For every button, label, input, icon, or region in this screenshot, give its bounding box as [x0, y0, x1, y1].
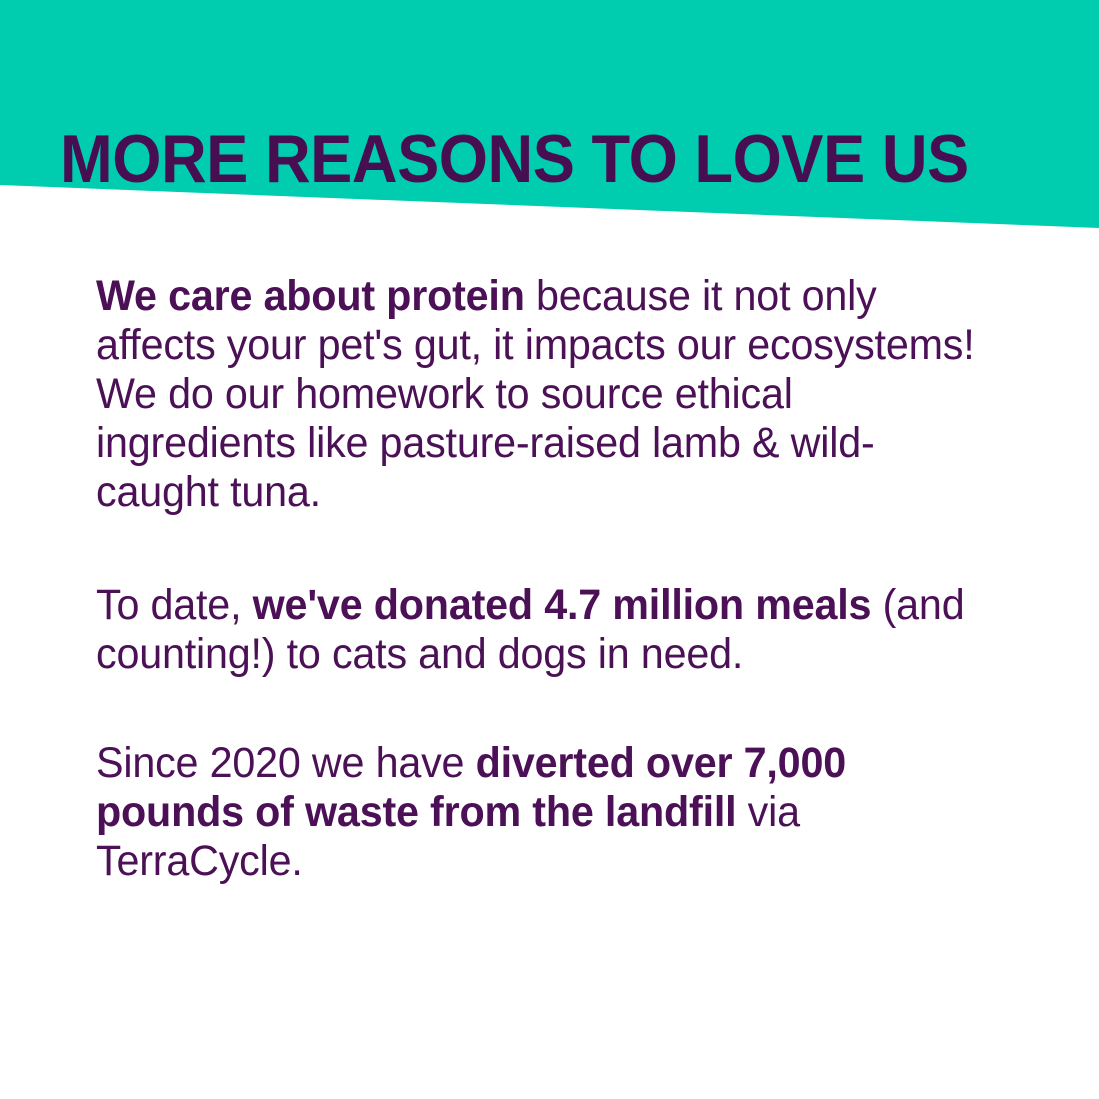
paragraph-protein: We care about protein because it not onl…: [96, 272, 989, 517]
paragraph-waste-diverted: Since 2020 we have diverted over 7,000 p…: [96, 739, 994, 886]
paragraph-donated-meals: To date, we've donated 4.7 million meals…: [96, 581, 1018, 679]
paragraph-donated-meals-highlight: we've donated 4.7 million meals: [253, 581, 872, 629]
paragraph-waste-diverted-prefix: Since 2020 we have: [96, 739, 476, 787]
header-banner: [0, 0, 1099, 232]
body-copy: We care about protein because it not onl…: [96, 272, 1046, 886]
page-title: MORE REASONS TO LOVE US: [60, 125, 990, 193]
paragraph-donated-meals-prefix: To date,: [96, 581, 253, 629]
paragraph-protein-lead: We care about protein: [96, 272, 525, 320]
poster-canvas: MORE REASONS TO LOVE US We care about pr…: [0, 0, 1099, 1099]
